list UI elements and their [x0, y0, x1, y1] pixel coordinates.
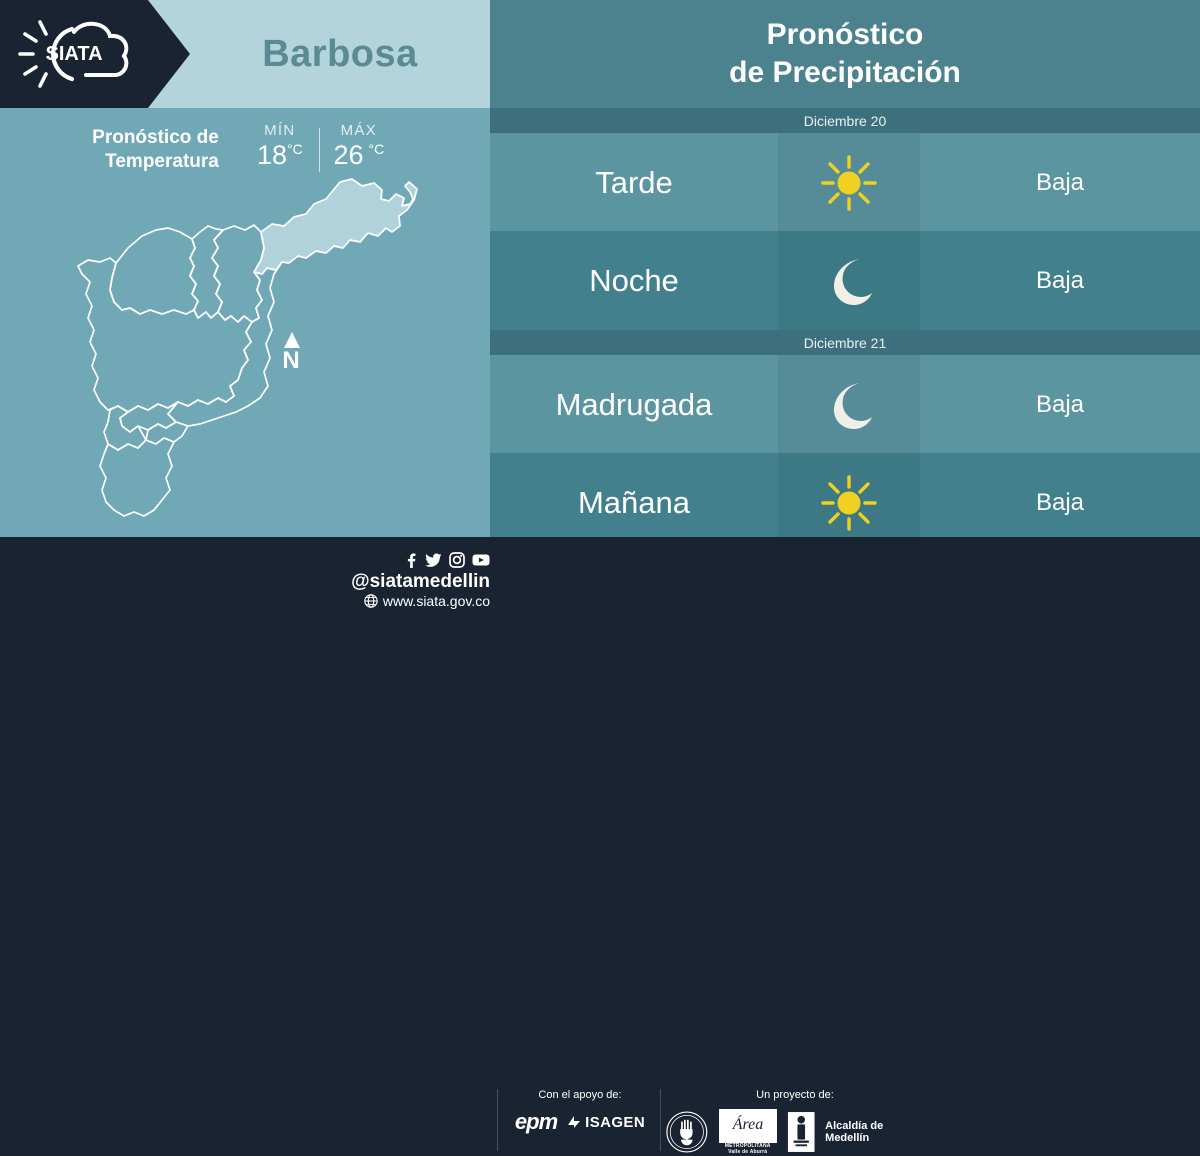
map-region-copacabana — [190, 226, 223, 318]
forecast-row-tarde: Tarde Baja — [490, 133, 1200, 232]
alcaldia-shield-logo — [787, 1110, 815, 1154]
isagen-logo: ISAGEN — [567, 1114, 645, 1131]
support-caption: Con el apoyo de: — [538, 1089, 621, 1101]
temperature-max-label: MÁX — [341, 122, 377, 139]
forecast-row-noche: Noche Baja — [490, 231, 1200, 330]
precipitation-header: Pronóstico de Precipitación — [490, 0, 1200, 108]
temperature-panel: Pronóstico de Temperatura MÍN 18°C MÁX 2… — [0, 108, 490, 537]
temperature-values: MÍN 18°C MÁX 26°C — [241, 122, 398, 172]
area-metropolitana-logo: Área METROPOLITANA Valle de Aburrá — [719, 1109, 777, 1156]
youtube-icon[interactable] — [472, 553, 490, 567]
map-region-bello — [110, 228, 198, 314]
temperature-max: MÁX 26°C — [320, 122, 398, 171]
isagen-label: ISAGEN — [585, 1114, 645, 1131]
temperature-max-value: 26°C — [333, 140, 384, 171]
map-region-envigado — [168, 262, 282, 426]
forecast-row-madrugada: Madrugada Baja — [490, 355, 1200, 454]
sun-icon — [778, 133, 920, 232]
udea-seal-logo — [665, 1109, 709, 1155]
map-region-barbosa — [254, 179, 417, 274]
infographic-root: SIATA Barbosa Pronóstico de Temperatura … — [0, 0, 1200, 630]
level-label: Baja — [1036, 267, 1084, 295]
level-cell: Baja — [920, 355, 1200, 454]
moon-icon — [778, 355, 920, 454]
area-line2: Valle de Aburrá — [728, 1149, 767, 1155]
precipitation-panel: Pronóstico de Precipitación Diciembre 20… — [490, 0, 1200, 537]
temperature-min-label: MÍN — [264, 122, 295, 139]
website-row[interactable]: www.siata.gov.co — [364, 593, 490, 609]
footer: @siatamedellin www.siata.gov.co Con el a… — [0, 537, 1200, 630]
city-title: Barbosa — [190, 0, 490, 108]
period-label: Noche — [589, 263, 679, 299]
footer-divider-1 — [497, 1089, 498, 1151]
left-header-band: SIATA Barbosa — [0, 0, 490, 108]
moon-icon-svg — [819, 251, 879, 311]
map-svg: N — [48, 170, 448, 530]
temperature-title-line1: Pronóstico de — [92, 126, 219, 150]
period-label: Tarde — [595, 165, 673, 201]
epm-logo: epm — [515, 1109, 557, 1135]
min-unit: °C — [287, 141, 303, 157]
siata-logo: SIATA — [14, 14, 138, 94]
alcaldia-label: Alcaldía de Medellín — [825, 1120, 925, 1144]
isagen-mark-icon — [567, 1115, 583, 1129]
level-label: Baja — [1036, 489, 1084, 517]
period-label: Mañana — [578, 485, 690, 521]
map-region-la-estrella — [104, 406, 146, 450]
temperature-min-value: 18°C — [257, 140, 303, 171]
project-caption: Un proyecto de: — [756, 1089, 834, 1101]
map-region-sabaneta — [146, 422, 188, 444]
map-region-itagui — [120, 402, 178, 432]
area-script-icon: Área — [719, 1109, 777, 1143]
moon-icon-svg — [819, 375, 879, 435]
max-unit: °C — [369, 141, 385, 157]
social-icons — [403, 551, 490, 569]
period-cell: Noche — [490, 231, 778, 330]
facebook-icon[interactable] — [403, 552, 418, 568]
social-handle[interactable]: @siatamedellin — [351, 571, 490, 593]
period-label: Madrugada — [556, 387, 713, 423]
sun-icon-svg — [817, 471, 881, 535]
level-cell: Baja — [920, 231, 1200, 330]
social-block: @siatamedellin www.siata.gov.co — [330, 551, 490, 617]
map-region-caldas — [100, 438, 174, 516]
level-label: Baja — [1036, 391, 1084, 419]
date-header-dec20: Diciembre 20 — [490, 108, 1200, 133]
period-cell: Tarde — [490, 133, 778, 232]
period-cell: Madrugada — [490, 355, 778, 454]
aburra-valley-map: N — [48, 170, 448, 530]
temperature-min: MÍN 18°C — [241, 122, 319, 171]
siata-logo-banner: SIATA — [0, 0, 190, 108]
website-url: www.siata.gov.co — [383, 593, 490, 609]
sun-icon-svg — [817, 151, 881, 215]
map-region-medellin — [78, 258, 252, 412]
footer-divider-2 — [660, 1089, 661, 1151]
siata-logo-svg: SIATA — [14, 14, 138, 94]
support-block: Con el apoyo de: epm ISAGEN — [505, 1089, 655, 1135]
date-header-dec21: Diciembre 21 — [490, 330, 1200, 355]
level-label: Baja — [1036, 169, 1084, 197]
moon-icon — [778, 231, 920, 330]
precipitation-title-line1: Pronóstico — [767, 16, 924, 54]
min-number: 18 — [257, 140, 287, 170]
globe-icon — [364, 594, 378, 608]
max-number: 26 — [333, 140, 363, 170]
svg-text:Área: Área — [731, 1114, 763, 1133]
support-logos: epm ISAGEN — [515, 1109, 645, 1135]
instagram-icon[interactable] — [449, 552, 465, 568]
siata-logo-text: SIATA — [45, 43, 102, 65]
temperature-title: Pronóstico de Temperatura — [92, 122, 219, 175]
project-block: Un proyecto de: — [665, 1089, 925, 1156]
precipitation-title-line2: de Precipitación — [729, 54, 961, 92]
north-arrow-label: N — [282, 347, 299, 374]
level-cell: Baja — [920, 133, 1200, 232]
north-arrow-icon: N — [282, 332, 300, 374]
project-logos: Área METROPOLITANA Valle de Aburrá Alcal… — [665, 1109, 925, 1156]
twitter-icon[interactable] — [425, 552, 442, 568]
